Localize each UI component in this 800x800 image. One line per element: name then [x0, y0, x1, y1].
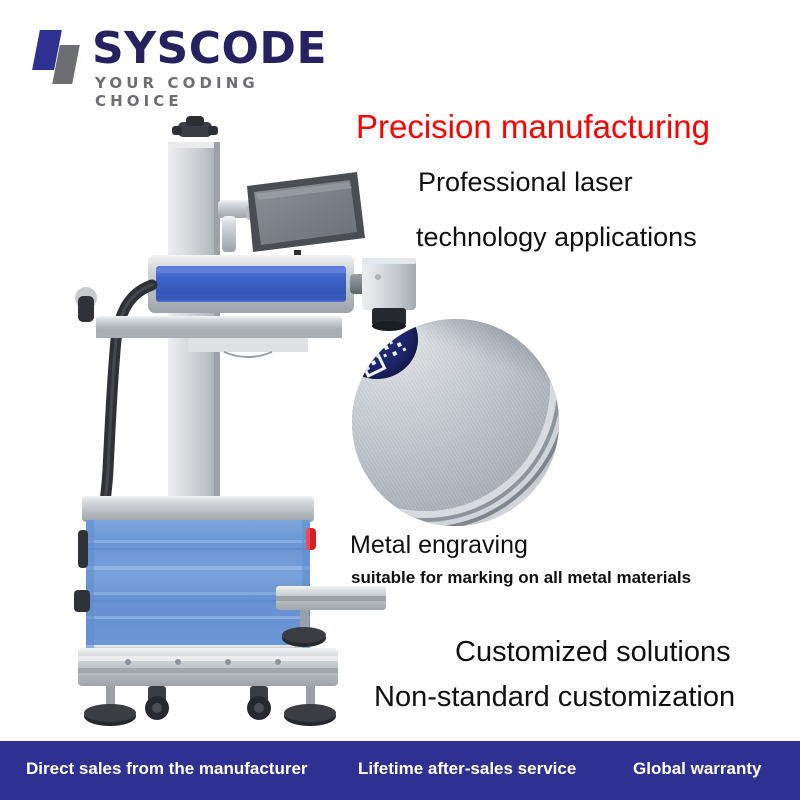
footer-item-after-sales: Lifetime after-sales service: [358, 759, 576, 779]
leveling-foot-right: [284, 686, 336, 726]
upper-support-rail: [96, 316, 342, 357]
qr-code-icon: [352, 319, 410, 373]
footer-item-global-warranty: Global warranty: [633, 759, 761, 779]
caster-left: [145, 686, 169, 720]
emergency-stop-button[interactable]: [306, 528, 316, 550]
subhead-line-2: technology applications: [416, 222, 697, 253]
metal-engraving-photo-inset: [352, 319, 559, 526]
headline: Precision manufacturing: [356, 108, 710, 146]
frame-adjust-knob: [75, 287, 97, 322]
caster-right: [247, 686, 271, 720]
inset-caption-title: Metal engraving: [350, 531, 528, 560]
control-cabinet: [74, 496, 316, 653]
laser-head-housing: [148, 255, 384, 313]
tagline-non-standard-customization: Non-standard customization: [374, 681, 735, 714]
base-frame-rail: [78, 648, 338, 686]
subhead-line-1: Professional laser: [418, 167, 633, 198]
tagline-customized-solutions: Customized solutions: [455, 636, 731, 669]
promo-banner-page: SYSCODE YOUR CODING CHOICE: [0, 0, 800, 800]
inset-caption-subtitle: suitable for marking on all metal materi…: [351, 568, 691, 588]
leveling-foot-left: [84, 686, 136, 726]
footer-item-direct-sales: Direct sales from the manufacturer: [26, 759, 308, 779]
column-knob: [172, 116, 218, 137]
